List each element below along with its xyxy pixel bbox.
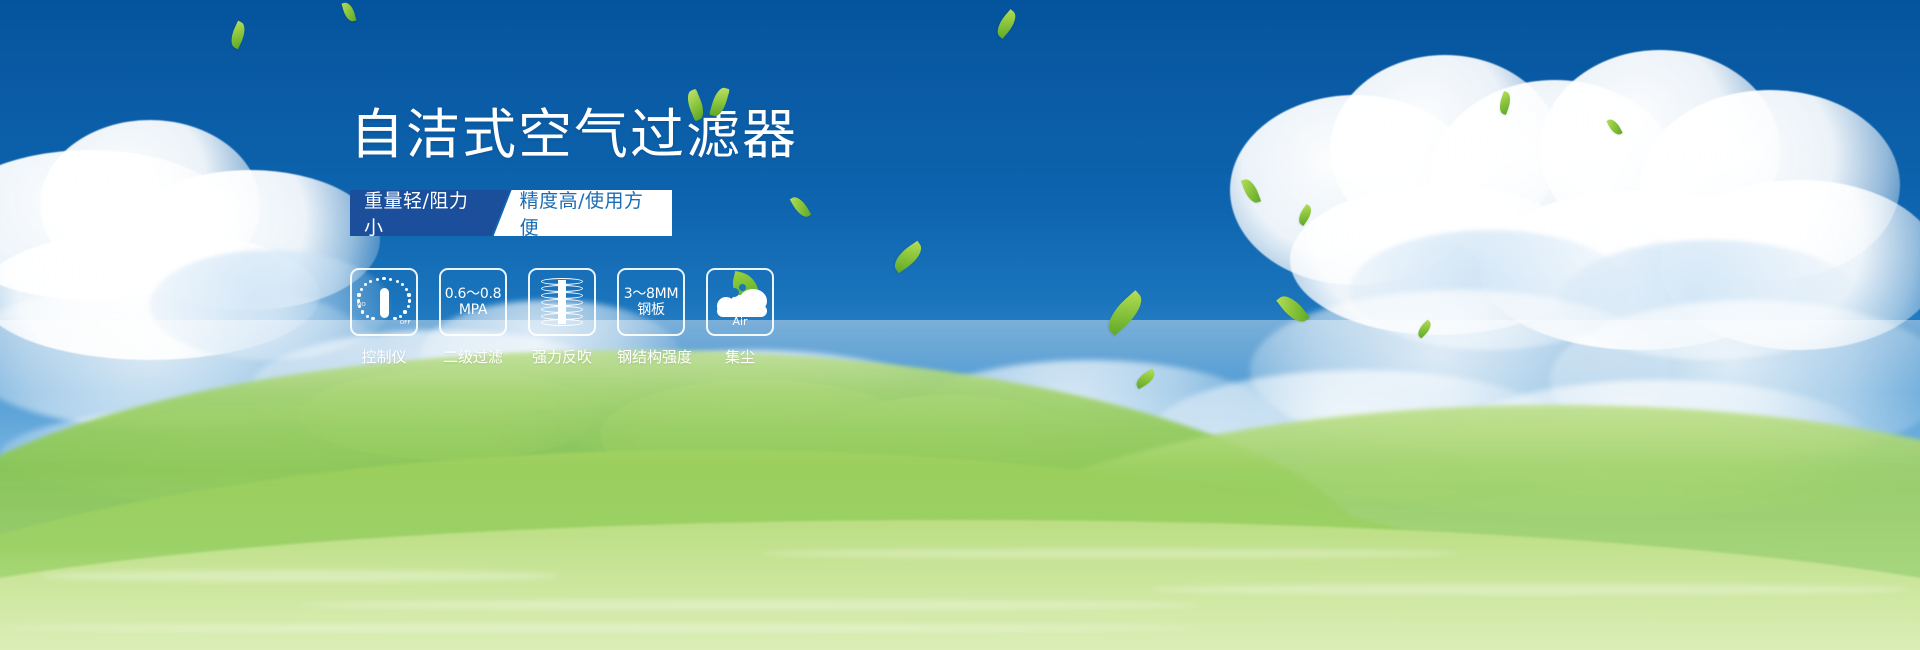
feature-item-steel-strength[interactable]: 3～8MM 钢板 钢结构强度 xyxy=(617,268,685,367)
air-label: Air xyxy=(713,315,767,328)
feature-icon-box xyxy=(528,268,596,336)
subtitle-left-tag: 重量轻/阻力小 xyxy=(350,190,510,236)
leaf-icon xyxy=(684,89,707,122)
feature-icon-box: Air xyxy=(706,268,774,336)
feature-caption: 强力反吹 xyxy=(528,346,596,367)
product-banner: 自洁式空气过滤器 重量轻/阻力小 精度高/使用方便 xyxy=(0,0,1920,650)
grass-field xyxy=(0,320,1920,650)
gauge-on-label: NO xyxy=(357,302,366,308)
feature-icon-box: 3～8MM 钢板 xyxy=(617,268,685,336)
feature-item-dust-collect[interactable]: Air 集尘 xyxy=(706,268,774,367)
title-leaf-decoration xyxy=(683,86,741,120)
feature-caption: 控制仪 xyxy=(350,346,418,367)
feature-caption: 集尘 xyxy=(706,346,774,367)
feature-item-two-stage[interactable]: 0.6～0.8 MPA 二级过滤 xyxy=(439,268,507,367)
page-title: 自洁式空气过滤器 xyxy=(350,108,910,162)
feature-caption: 二级过滤 xyxy=(439,346,507,367)
leaf-icon xyxy=(709,86,730,118)
feature-list: NO OFF 控制仪 0.6～0.8 MPA 二级过滤 xyxy=(350,268,910,367)
banner-content: 自洁式空气过滤器 重量轻/阻力小 精度高/使用方便 xyxy=(350,108,910,367)
subtitle-ribbon: 重量轻/阻力小 精度高/使用方便 xyxy=(350,190,672,236)
feature-icon-box: 0.6～0.8 MPA xyxy=(439,268,507,336)
filter-cartridge-icon xyxy=(541,278,583,326)
feature-caption: 钢结构强度 xyxy=(617,346,685,367)
air-cloud-icon: Air xyxy=(713,279,767,325)
gauge-off-label: OFF xyxy=(400,320,411,326)
feature-item-controller[interactable]: NO OFF 控制仪 xyxy=(350,268,418,367)
steel-text-icon: 3～8MM 钢板 xyxy=(624,286,678,318)
subtitle-right-tag: 精度高/使用方便 xyxy=(494,190,672,236)
feature-item-backblow[interactable]: 强力反吹 xyxy=(528,268,596,367)
gauge-icon: NO OFF xyxy=(358,277,410,327)
pressure-text-icon: 0.6～0.8 MPA xyxy=(445,286,501,318)
feature-icon-box: NO OFF xyxy=(350,268,418,336)
